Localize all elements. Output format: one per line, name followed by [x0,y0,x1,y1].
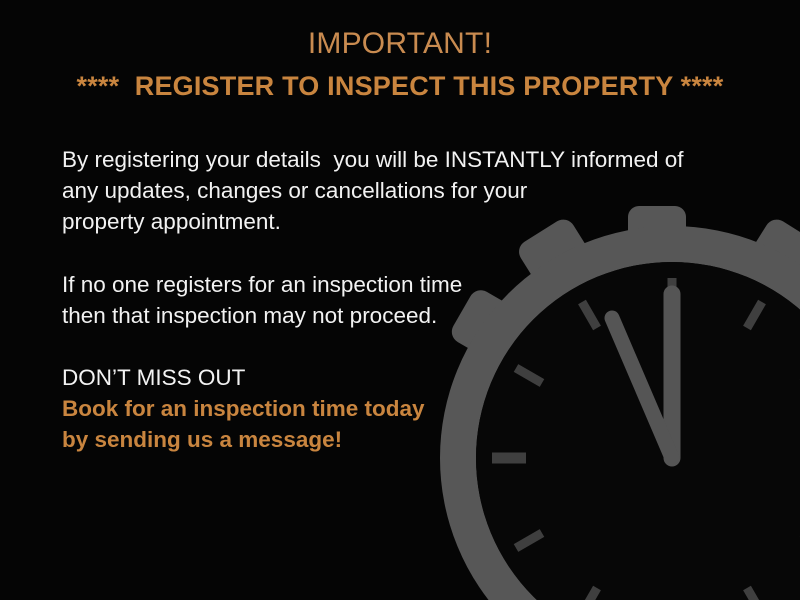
paragraph1-line3: property appointment. [62,209,281,234]
paragraph-registering-benefit: By registering your details you will be … [62,144,722,237]
paragraph2-line1: If no one registers for an inspection ti… [62,272,462,297]
headline-block: IMPORTANT! **** REGISTER TO INSPECT THIS… [0,26,800,104]
call-to-action-block: DON’T MISS OUT Book for an inspection ti… [62,362,722,455]
paragraph2-line2: then that inspection may not proceed. [62,303,437,328]
headline-register-to-inspect: **** REGISTER TO INSPECT THIS PROPERTY *… [0,70,800,104]
cta-dont-miss-out: DON’T MISS OUT [62,362,722,393]
cta-book-inspection: Book for an inspection time today [62,393,722,424]
paragraph1-line1: By registering your details you will be … [62,147,684,172]
headline-important: IMPORTANT! [0,26,800,61]
body-copy-block: By registering your details you will be … [62,144,722,331]
promo-slide: IMPORTANT! **** REGISTER TO INSPECT THIS… [0,0,800,600]
paragraph-no-registration-warning: If no one registers for an inspection ti… [62,269,722,331]
paragraph1-line2: any updates, changes or cancellations fo… [62,178,527,203]
cta-send-message: by sending us a message! [62,424,722,455]
